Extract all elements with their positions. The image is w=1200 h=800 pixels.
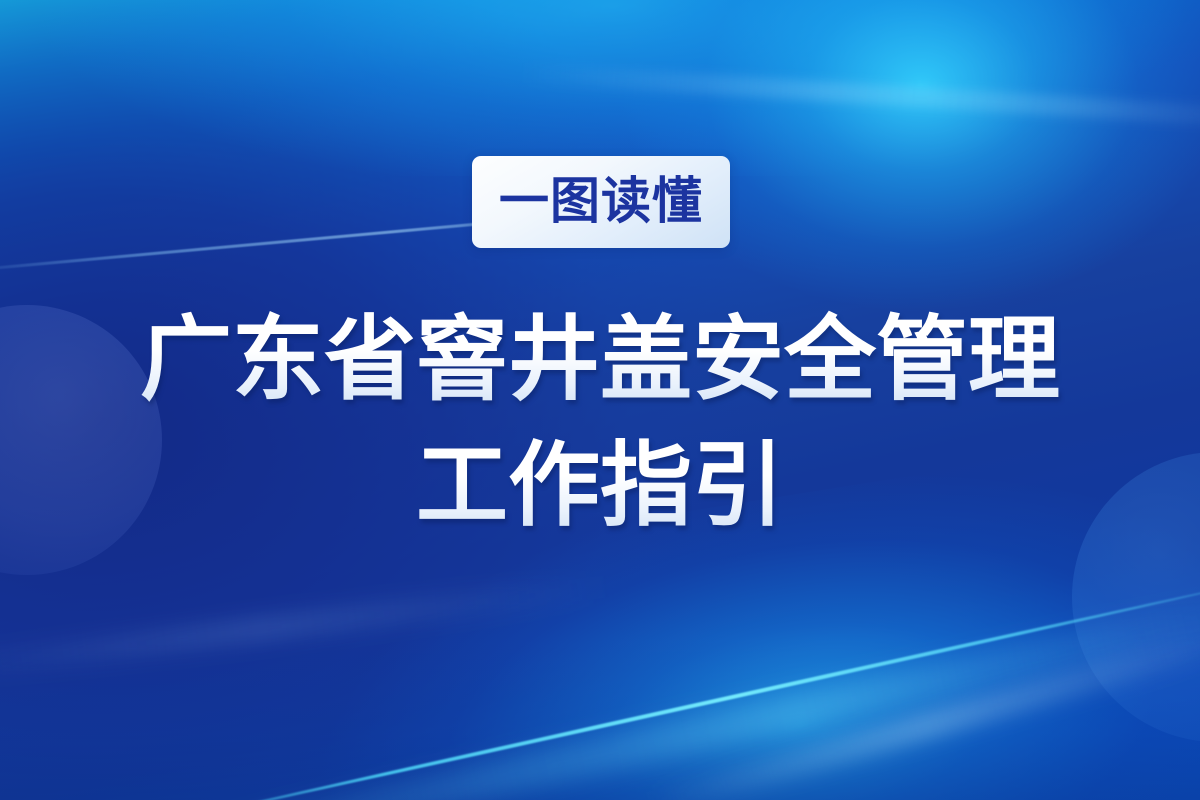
badge-label: 一图读懂 bbox=[499, 176, 703, 226]
read-in-one-picture-badge: 一图读懂 bbox=[472, 156, 730, 248]
title-line-2: 工作指引 bbox=[0, 422, 1200, 550]
poster-title: 广东省窨井盖安全管理 工作指引 bbox=[0, 296, 1200, 550]
poster-content: 一图读懂 广东省窨井盖安全管理 工作指引 bbox=[0, 0, 1200, 800]
title-line-1: 广东省窨井盖安全管理 bbox=[0, 296, 1200, 424]
poster-banner: 一图读懂 广东省窨井盖安全管理 工作指引 bbox=[0, 0, 1200, 800]
